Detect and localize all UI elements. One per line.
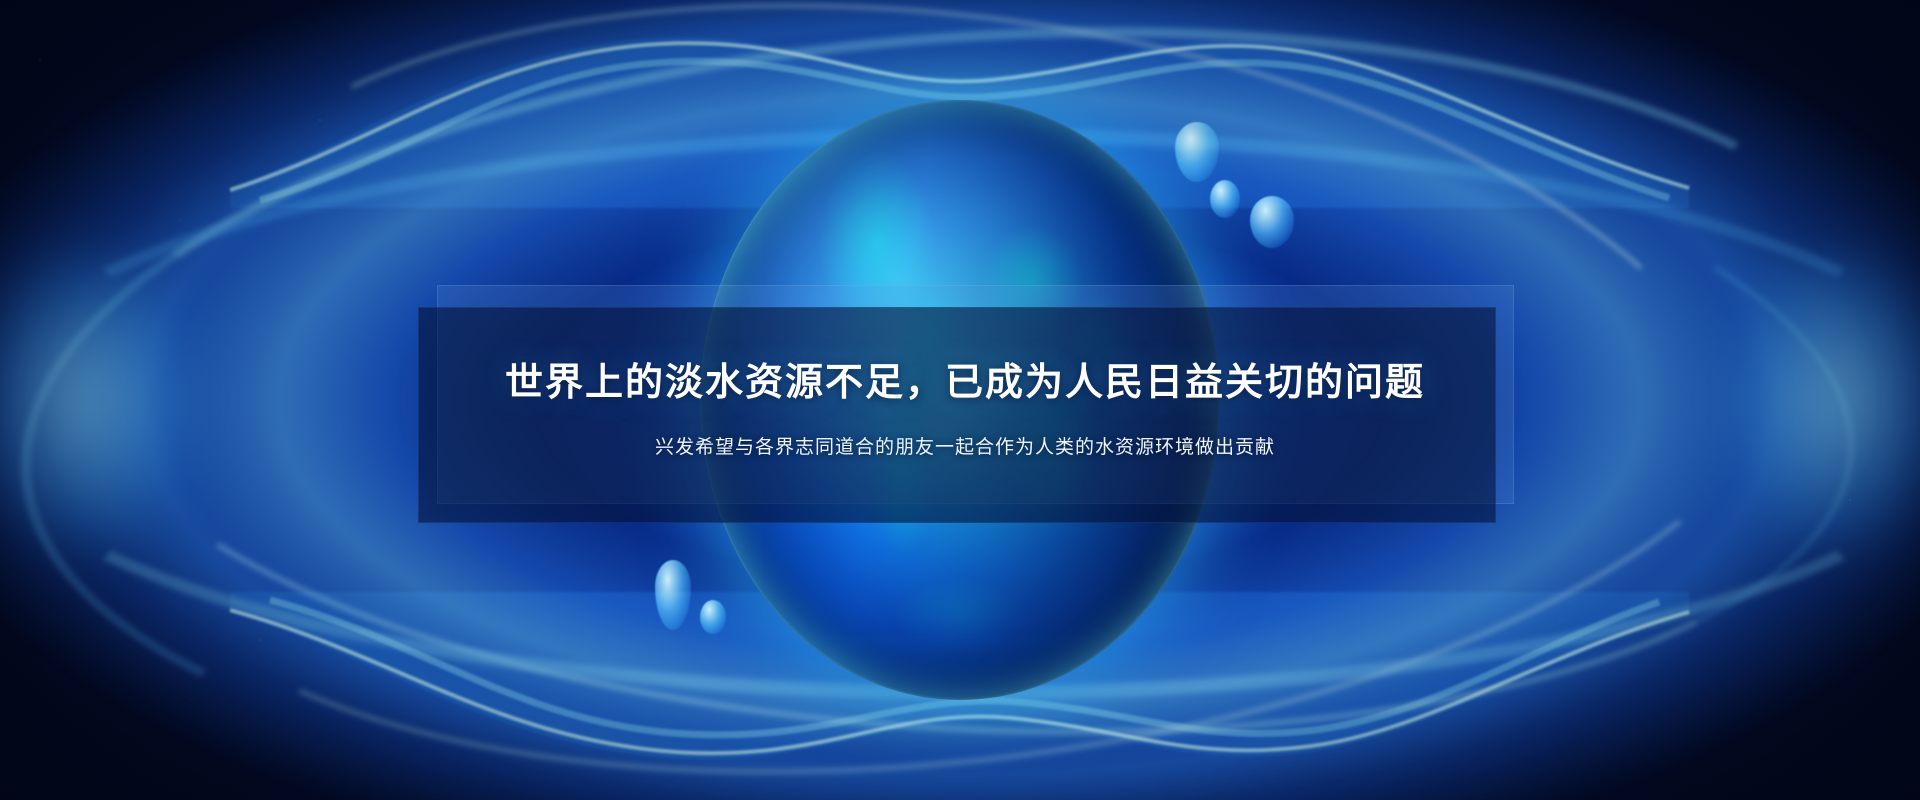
banner-headline: 世界上的淡水资源不足，已成为人民日益关切的问题: [505, 351, 1425, 406]
water-droplet-graphic: [1210, 180, 1240, 218]
water-droplet-graphic: [700, 600, 726, 634]
banner-subheadline: 兴发希望与各界志同道合的朋友一起合作为人类的水资源环境做出贡献: [655, 432, 1275, 459]
caption-text-block: 世界上的淡水资源不足，已成为人民日益关切的问题 兴发希望与各界志同道合的朋友一起…: [418, 307, 1512, 502]
hero-banner: 世界上的淡水资源不足，已成为人民日益关切的问题 兴发希望与各界志同道合的朋友一起…: [0, 0, 1920, 800]
